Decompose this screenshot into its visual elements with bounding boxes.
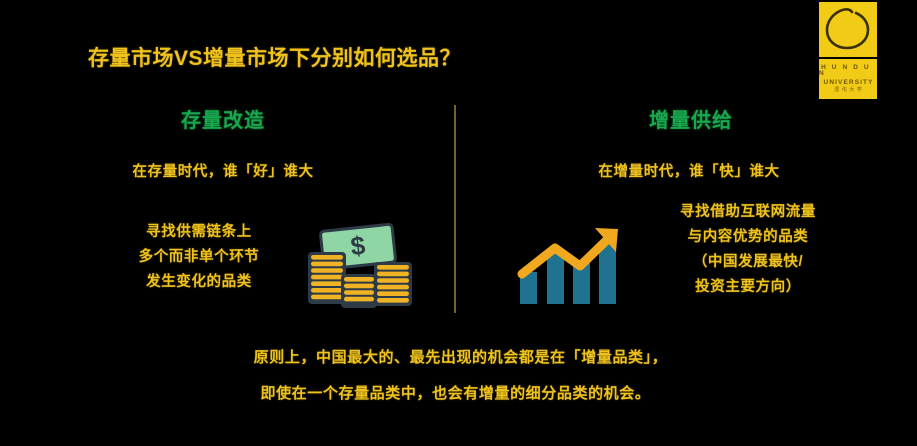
left-column-body: 寻找供需链条上 多个而非单个环节 发生变化的品类 [104,220,294,295]
footer-line-2: 即使在一个存量品类中，也会有增量的细分品类的机会。 [0,376,917,412]
left-column-subtitle: 在存量时代，谁「好」谁大 [0,160,450,181]
left-column-heading: 存量改造 [0,104,450,133]
right-column-heading: 增量供给 [460,104,917,133]
right-body-line: 投资主要方向） [648,275,848,300]
left-body-line: 寻找供需链条上 [104,220,294,245]
right-column-subtitle: 在增量时代，谁「快」谁大 [458,160,917,181]
presentation-slide: H U N D U N UNIVERSITY 混沌大学 存量市场VS增量市场下分… [0,0,917,446]
left-body-line: 多个而非单个环节 [104,245,294,270]
right-body-line: 寻找借助互联网流量 [648,200,848,225]
footer-note: 原则上，中国最大的、最先出现的机会都是在「增量品类」， 即使在一个存量品类中，也… [0,340,917,412]
right-body-line: （中国发展最快/ [648,250,848,275]
footer-line-1: 原则上，中国最大的、最先出现的机会都是在「增量品类」， [0,340,917,376]
money-stacks-icon: $ [300,222,418,312]
left-body-line: 发生变化的品类 [104,270,294,295]
right-body-line: 与内容优势的品类 [648,225,848,250]
right-column-body: 寻找借助互联网流量 与内容优势的品类 （中国发展最快/ 投资主要方向） [648,200,848,300]
